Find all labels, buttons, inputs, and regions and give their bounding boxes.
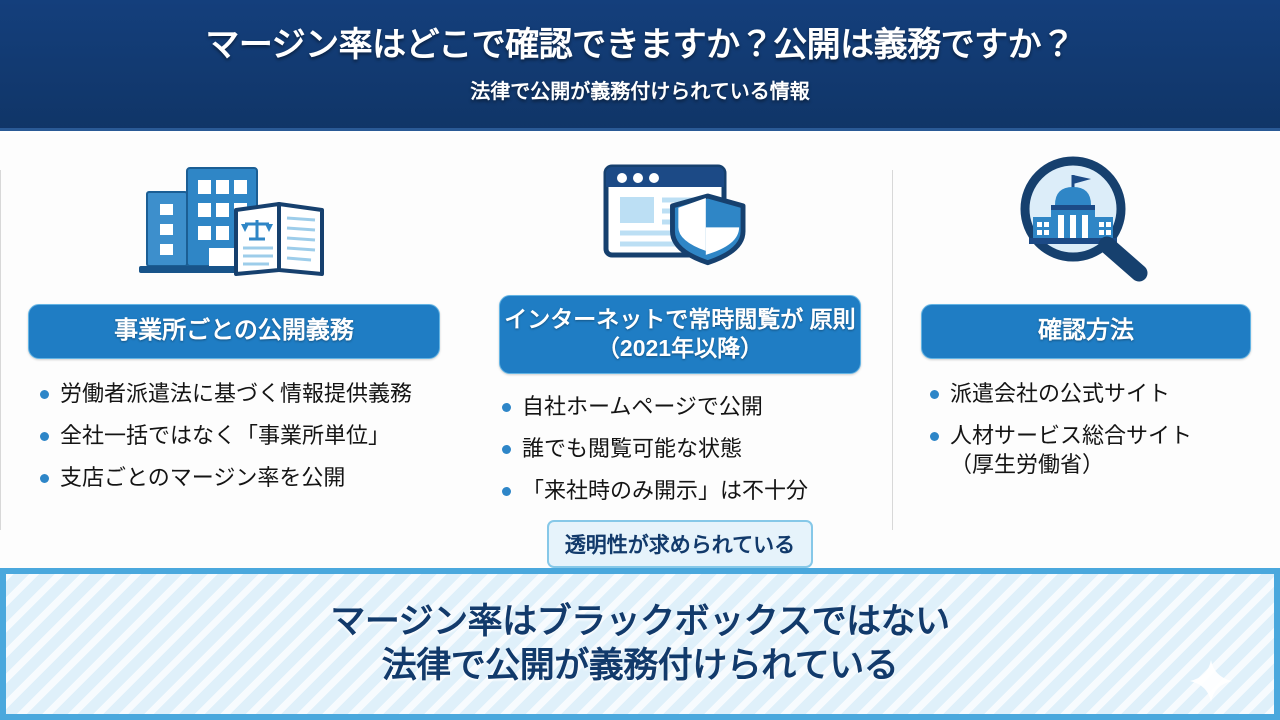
conclusion-banner: マージン率はブラックボックスではない 法律で公開が義務付けられている (0, 568, 1280, 720)
column-2-heading: インターネットで常時閲覧が 原則（2021年以降） (499, 295, 861, 374)
list-item: 人材サービス総合サイト （厚生労働省） (928, 421, 1262, 479)
list-item: 自社ホームページで公開 (500, 392, 874, 421)
list-item: 「来社時のみ開示」は不十分 (500, 476, 874, 505)
column-2-bullet-list: 自社ホームページで公開 誰でも閲覧可能な状態 「来社時のみ開示」は不十分 (486, 392, 874, 518)
transparency-callout: 透明性が求められている (547, 520, 813, 568)
banner-line-1: マージン率はブラックボックスではない (330, 600, 949, 644)
office-buildings-law-book-icon (129, 148, 339, 288)
column-3-bullet-list: 派遣会社の公式サイト 人材サービス総合サイト （厚生労働省） (910, 379, 1262, 492)
list-item: 全社一括ではなく「事業所単位」 (38, 421, 444, 450)
page-subtitle: 法律で公開が義務付けられている情報 (470, 75, 809, 104)
columns-container: 事業所ごとの公開義務 労働者派遣法に基づく情報提供義務 全社一括ではなく「事業所… (0, 134, 1280, 568)
column-1-heading: 事業所ごとの公開義務 (28, 304, 440, 359)
column-3-heading: 確認方法 (921, 304, 1251, 359)
column-disclosure-obligation: 事業所ごとの公開義務 労働者派遣法に基づく情報提供義務 全社一括ではなく「事業所… (0, 134, 468, 568)
page-title: マージン率はどこで確認できますか？公開は義務ですか？ (205, 27, 1074, 64)
list-item: 誰でも閲覧可能な状態 (500, 434, 874, 463)
column-1-bullet-list: 労働者派遣法に基づく情報提供義務 全社一括ではなく「事業所単位」 支店ごとのマー… (24, 379, 444, 505)
sparkle-icon (1190, 660, 1232, 702)
column-internet-disclosure: インターネットで常時閲覧が 原則（2021年以降） 自社ホームページで公開 誰で… (468, 134, 892, 568)
magnifier-government-building-icon (1011, 148, 1161, 288)
list-item: 労働者派遣法に基づく情報提供義務 (38, 379, 444, 408)
list-item: 派遣会社の公式サイト (928, 379, 1262, 408)
slide-header: マージン率はどこで確認できますか？公開は義務ですか？ 法律で公開が義務付けられて… (0, 0, 1280, 131)
column-how-to-check: 確認方法 派遣会社の公式サイト 人材サービス総合サイト （厚生労働省） (892, 134, 1280, 568)
list-item: 支店ごとのマージン率を公開 (38, 463, 444, 492)
banner-line-2: 法律で公開が義務付けられている (382, 644, 898, 688)
browser-window-shield-icon (600, 148, 760, 281)
